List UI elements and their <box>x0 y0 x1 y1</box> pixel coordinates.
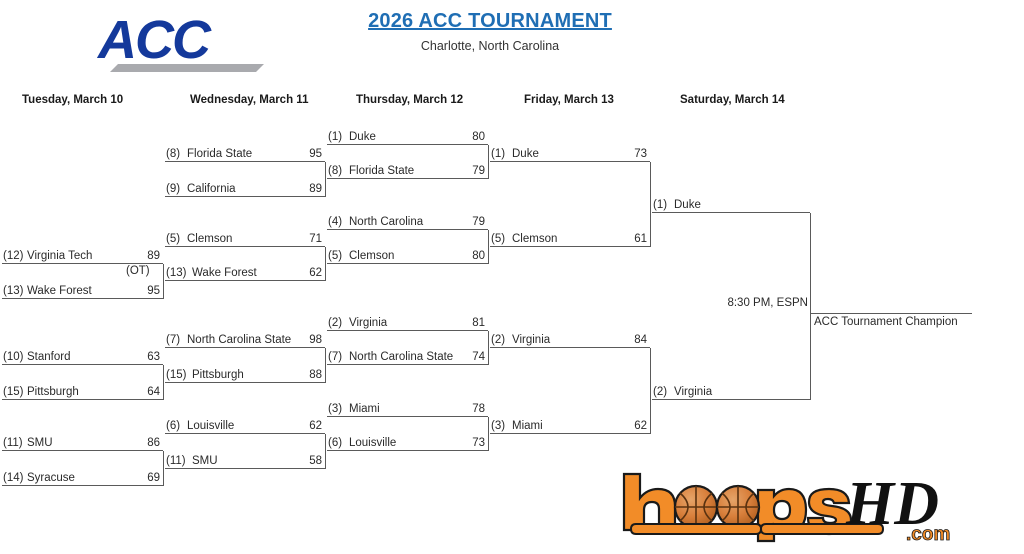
team-name: Pittsburgh <box>27 386 79 398</box>
team-name: Virginia <box>512 334 550 346</box>
page-title: 2026 ACC TOURNAMENT <box>330 10 650 33</box>
connector-quarterfinal-0 <box>488 145 489 179</box>
seed: (2) <box>491 334 505 346</box>
team-score: 62 <box>309 420 322 432</box>
team-name: Louisville <box>349 437 396 449</box>
day-header-saturday: Saturday, March 14 <box>680 94 785 106</box>
team-name: Syracuse <box>27 472 75 484</box>
slot-second-round-3[interactable]: (13) Wake Forest 62 <box>165 264 325 281</box>
seed: (4) <box>328 216 342 228</box>
seed: (13) <box>3 285 23 297</box>
team-score: 80 <box>472 250 485 262</box>
team-name: Miami <box>512 420 543 432</box>
seed: (12) <box>3 250 23 262</box>
connector-second-round-1 <box>325 247 326 281</box>
overtime-note: (OT) <box>126 265 150 277</box>
team-name: Duke <box>674 199 701 211</box>
acc-conference-logo: ACC <box>96 6 266 76</box>
team-score: 73 <box>472 437 485 449</box>
team-score: 69 <box>147 472 160 484</box>
seed: (7) <box>328 351 342 363</box>
slot-quarterfinal-7[interactable]: (6) Louisville 73 <box>327 434 488 451</box>
slot-quarterfinal-4[interactable]: (2) Virginia 81 <box>327 314 488 331</box>
team-name: North Carolina State <box>187 334 291 346</box>
team-score: 89 <box>309 183 322 195</box>
slot-second-round-2[interactable]: (5) Clemson 71 <box>165 230 325 247</box>
slot-first-round-4[interactable]: (11) SMU 86 <box>2 434 163 451</box>
svg-text:ACC: ACC <box>96 10 212 70</box>
team-name: Virginia Tech <box>27 250 92 262</box>
slot-semifinal-3[interactable]: (3) Miami 62 <box>490 417 650 434</box>
team-score: 61 <box>634 233 647 245</box>
seed: (6) <box>166 420 180 432</box>
connector-second-round-2 <box>325 348 326 383</box>
team-score: 79 <box>472 165 485 177</box>
seed: (14) <box>3 472 23 484</box>
seed: (7) <box>166 334 180 346</box>
slot-quarterfinal-5[interactable]: (7) North Carolina State 74 <box>327 348 488 365</box>
connector-second-round-0 <box>325 162 326 197</box>
team-score: 79 <box>472 216 485 228</box>
seed: (8) <box>328 165 342 177</box>
seed: (1) <box>328 131 342 143</box>
seed: (1) <box>491 148 505 160</box>
team-score: 58 <box>309 455 322 467</box>
team-score: 71 <box>309 233 322 245</box>
final-game-info: 8:30 PM, ESPN <box>676 297 808 309</box>
team-score: 73 <box>634 148 647 160</box>
connector-quarterfinal-3 <box>488 417 489 451</box>
team-name: North Carolina State <box>349 351 453 363</box>
team-score: 95 <box>309 148 322 160</box>
team-name: North Carolina <box>349 216 423 228</box>
connector-first-round-2 <box>163 451 164 486</box>
slot-quarterfinal-6[interactable]: (3) Miami 78 <box>327 400 488 417</box>
seed: (9) <box>166 183 180 195</box>
connector-first-round-1 <box>163 365 164 400</box>
slot-first-round-5[interactable]: (14) Syracuse 69 <box>2 469 163 486</box>
slot-semifinal-1[interactable]: (5) Clemson 61 <box>490 230 650 247</box>
hoopshd-logo: HD .com <box>618 466 978 546</box>
team-name: Louisville <box>187 420 234 432</box>
team-score: 98 <box>309 334 322 346</box>
seed: (15) <box>166 369 186 381</box>
team-score: 84 <box>634 334 647 346</box>
seed: (15) <box>3 386 23 398</box>
seed: (5) <box>328 250 342 262</box>
slot-semifinal-2[interactable]: (2) Virginia 84 <box>490 331 650 348</box>
seed: (3) <box>491 420 505 432</box>
team-name: Clemson <box>512 233 557 245</box>
slot-quarterfinal-0[interactable]: (1) Duke 80 <box>327 128 488 145</box>
seed: (3) <box>328 403 342 415</box>
connector-championship <box>810 213 811 400</box>
team-name: SMU <box>192 455 218 467</box>
day-header-thursday: Thursday, March 12 <box>356 94 463 106</box>
slot-quarterfinal-1[interactable]: (8) Florida State 79 <box>327 162 488 179</box>
day-header-tuesday: Tuesday, March 10 <box>22 94 123 106</box>
slot-second-round-7[interactable]: (11) SMU 58 <box>165 452 325 469</box>
day-header-wednesday: Wednesday, March 11 <box>190 94 308 106</box>
seed: (13) <box>166 267 186 279</box>
connector-semifinal-1 <box>650 348 651 434</box>
slot-first-round-1[interactable]: (13) Wake Forest 95 <box>2 282 163 299</box>
team-name: California <box>187 183 236 195</box>
title-block: 2026 ACC TOURNAMENT Charlotte, North Car… <box>330 10 650 53</box>
team-name: Clemson <box>187 233 232 245</box>
team-name: Duke <box>512 148 539 160</box>
team-score: 74 <box>472 351 485 363</box>
slot-first-round-2[interactable]: (10) Stanford 63 <box>2 348 163 365</box>
team-score: 64 <box>147 386 160 398</box>
team-name: Virginia <box>349 317 387 329</box>
slot-second-round-0[interactable]: (8) Florida State 95 <box>165 145 325 162</box>
seed: (11) <box>166 455 186 467</box>
bracket-canvas: ACC 2026 ACC TOURNAMENT Charlotte, North… <box>0 0 1024 554</box>
team-score: 62 <box>634 420 647 432</box>
team-name: Wake Forest <box>27 285 92 297</box>
team-score: 88 <box>309 369 322 381</box>
tournament-location: Charlotte, North Carolina <box>330 39 650 53</box>
team-name: Stanford <box>27 351 70 363</box>
slot-second-round-1[interactable]: (9) California 89 <box>165 180 325 197</box>
slot-second-round-4[interactable]: (7) North Carolina State 98 <box>165 331 325 348</box>
seed: (11) <box>3 437 23 449</box>
team-score: 86 <box>147 437 160 449</box>
team-name: Virginia <box>674 386 712 398</box>
connector-quarterfinal-1 <box>488 230 489 264</box>
seed: (10) <box>3 351 23 363</box>
slot-second-round-6[interactable]: (6) Louisville 62 <box>165 417 325 434</box>
slot-first-round-3[interactable]: (15) Pittsburgh 64 <box>2 383 163 400</box>
team-score: 62 <box>309 267 322 279</box>
slot-second-round-5[interactable]: (15) Pittsburgh 88 <box>165 366 325 383</box>
team-score: 78 <box>472 403 485 415</box>
champion-label: ACC Tournament Champion <box>814 316 958 328</box>
seed: (6) <box>328 437 342 449</box>
team-name: Miami <box>349 403 380 415</box>
connector-first-round-0 <box>163 264 164 299</box>
team-name: Pittsburgh <box>192 369 244 381</box>
team-name: Duke <box>349 131 376 143</box>
champion-line <box>810 313 972 314</box>
svg-text:.com: .com <box>906 524 950 545</box>
seed: (5) <box>491 233 505 245</box>
team-name: SMU <box>27 437 53 449</box>
team-name: Clemson <box>349 250 394 262</box>
slot-championship-1[interactable]: (2) Virginia <box>652 383 810 400</box>
slot-quarterfinal-2[interactable]: (4) North Carolina 79 <box>327 213 488 230</box>
team-name: Florida State <box>187 148 252 160</box>
day-header-friday: Friday, March 13 <box>524 94 614 106</box>
team-score: 89 <box>147 250 160 262</box>
team-name: Florida State <box>349 165 414 177</box>
slot-championship-0[interactable]: (1) Duke <box>652 196 810 213</box>
team-name: Wake Forest <box>192 267 257 279</box>
slot-first-round-0[interactable]: (12) Virginia Tech 89 <box>2 247 163 264</box>
seed: (5) <box>166 233 180 245</box>
seed: (2) <box>328 317 342 329</box>
team-score: 81 <box>472 317 485 329</box>
connector-quarterfinal-2 <box>488 331 489 365</box>
slot-semifinal-0[interactable]: (1) Duke 73 <box>490 145 650 162</box>
connector-semifinal-0 <box>650 162 651 247</box>
connector-second-round-3 <box>325 434 326 469</box>
seed: (2) <box>653 386 667 398</box>
seed: (1) <box>653 199 667 211</box>
slot-quarterfinal-3[interactable]: (5) Clemson 80 <box>327 247 488 264</box>
team-score: 63 <box>147 351 160 363</box>
team-score: 80 <box>472 131 485 143</box>
team-score: 95 <box>147 285 160 297</box>
seed: (8) <box>166 148 180 160</box>
